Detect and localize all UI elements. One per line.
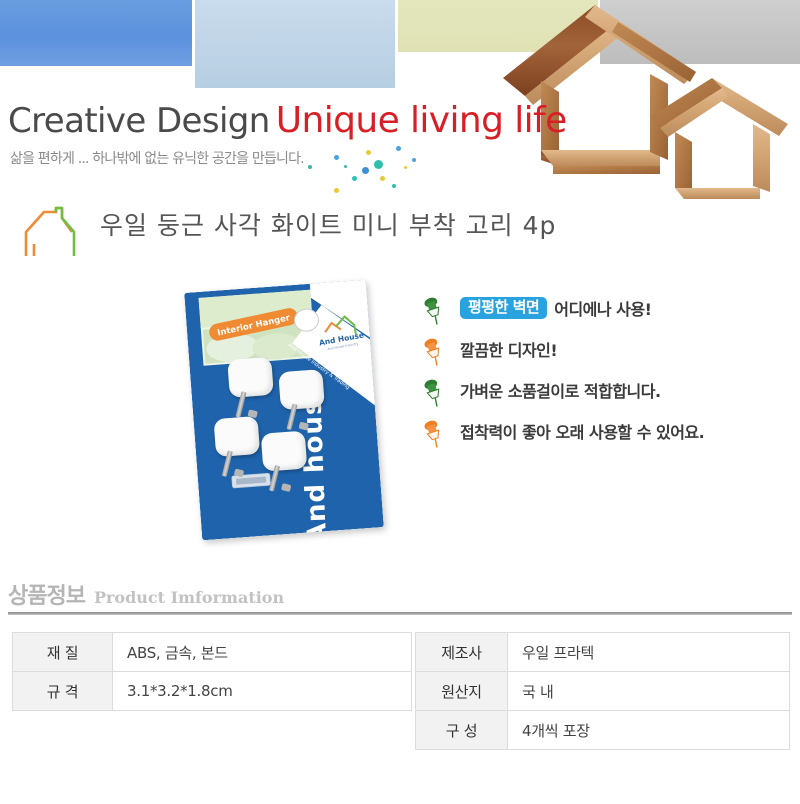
info-section-heading: 상품정보Product Imformation (8, 578, 284, 610)
spec-key: 원산지 (416, 672, 508, 711)
feature-item: 접착력이 좋아 오래 사용할 수 있어요. (420, 417, 790, 458)
info-heading-ko: 상품정보 (8, 584, 85, 609)
decorative-dots (300, 140, 430, 195)
banner-block-blue (0, 0, 192, 66)
page-title: 우일 둥근 사각 화이트 미니 부착 고리 4p (100, 206, 556, 242)
table-row: 원산지 국 내 (416, 672, 790, 711)
spec-key: 재 질 (13, 633, 113, 672)
feature-label: 깔끔한 디자인! (460, 337, 557, 361)
product-package-blister: Interior Hanger And House And House Indu… (184, 280, 384, 541)
product-image: Interior Hanger And House And House Indu… (193, 286, 393, 538)
table-row: 규 격 3.1*3.2*1.8cm (13, 672, 412, 711)
table-row: 제조사 우일 프라텍 (416, 633, 790, 672)
tagline-creative-design: Creative Design (8, 101, 270, 141)
pushpin-icon (420, 378, 446, 408)
house-outline-icon (22, 206, 80, 258)
spec-value: 우일 프라텍 (508, 633, 790, 672)
spec-key: 구 성 (416, 711, 508, 750)
spec-value: 국 내 (508, 672, 790, 711)
pushpin-icon (420, 419, 446, 449)
section-divider (8, 612, 792, 615)
table-row: 구 성 4개씩 포장 (416, 711, 790, 750)
brand-subtagline: 삶을 편하게 ... 하나밖에 없는 유닉한 공간을 만듭니다. (10, 148, 304, 168)
spec-table-left: 재 질 ABS, 금속, 본드 규 격 3.1*3.2*1.8cm (12, 632, 412, 711)
spec-value: ABS, 금속, 본드 (113, 633, 412, 672)
pushpin-icon (420, 296, 446, 326)
feature-label: 접착력이 좋아 오래 사용할 수 있어요. (460, 419, 704, 443)
package-artwork: Interior Hanger And House And House Indu… (184, 280, 384, 541)
tagline-unique-living-life: Unique living life (276, 100, 567, 141)
product-title-row: 우일 둥근 사각 화이트 미니 부착 고리 4p (0, 200, 800, 266)
banner-block-light-blue (195, 0, 395, 88)
hook-item (227, 357, 274, 398)
feature-text: 평평한 벽면어디에나 사용! (460, 296, 651, 320)
spec-key: 규 격 (13, 672, 113, 711)
feature-item: 평평한 벽면어디에나 사용! (420, 294, 790, 335)
feature-list: 평평한 벽면어디에나 사용! 깔끔한 디자인! (420, 294, 790, 458)
pushpin-icon (420, 337, 446, 367)
hook-item (278, 369, 325, 410)
feature-item: 깔끔한 디자인! (420, 335, 790, 376)
hook-item (213, 416, 260, 457)
info-heading-en: Product Imformation (94, 588, 284, 607)
spec-value: 3.1*3.2*1.8cm (113, 672, 412, 711)
brand-tagline: Creative DesignUnique living life (8, 100, 567, 141)
spec-key: 제조사 (416, 633, 508, 672)
hook-item (261, 431, 308, 472)
feature-item: 가벼운 소품걸이로 적합합니다. (420, 376, 790, 417)
feature-badge: 평평한 벽면 (460, 297, 547, 319)
feature-label: 어디에나 사용! (554, 300, 651, 319)
table-row: 재 질 ABS, 금속, 본드 (13, 633, 412, 672)
spec-table-right: 제조사 우일 프라텍 원산지 국 내 구 성 4개씩 포장 (415, 632, 790, 750)
spec-value: 4개씩 포장 (508, 711, 790, 750)
feature-label: 가벼운 소품걸이로 적합합니다. (460, 378, 661, 402)
product-detail-page: Creative DesignUnique living life 삶을 편하게… (0, 0, 800, 804)
